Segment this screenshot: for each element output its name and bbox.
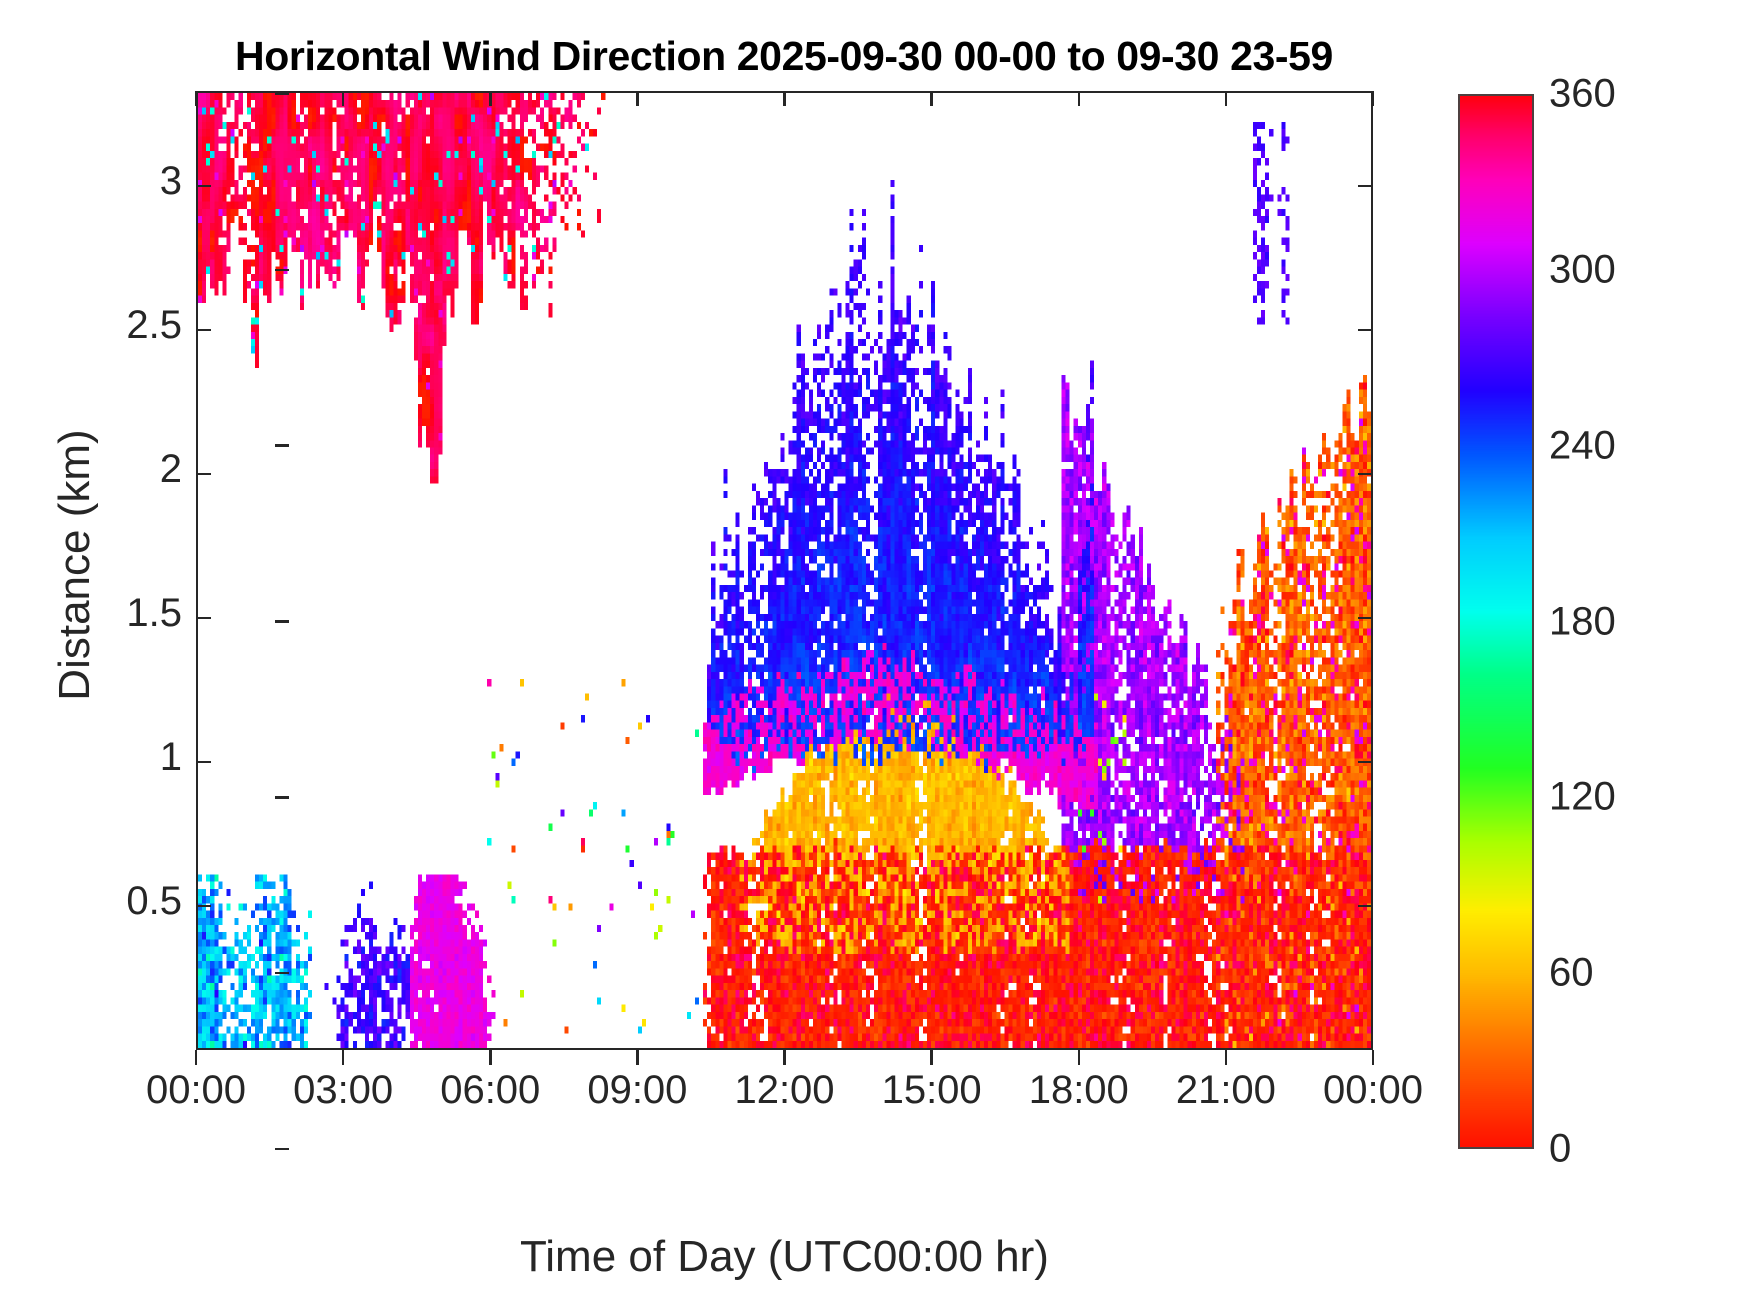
heatmap-axes[interactable] xyxy=(196,91,1373,1050)
y-axis-title: Distance (km) xyxy=(50,245,100,885)
x-tick-mark xyxy=(1078,1050,1081,1065)
y-tick-mark xyxy=(1358,761,1373,764)
y-tick-mark xyxy=(196,185,211,188)
colorbar-tick-mark xyxy=(275,972,289,975)
y-tick-label: 2 xyxy=(160,447,182,492)
x-axis-title: Time of Day (UTC00:00 hr) xyxy=(196,1232,1373,1282)
colorbar-tick-label: 60 xyxy=(1549,951,1594,996)
colorbar-tick-mark xyxy=(275,93,289,96)
x-tick-label: 18:00 xyxy=(1029,1068,1129,1113)
x-tick-label: 12:00 xyxy=(734,1068,834,1113)
colorbar-tick-label: 360 xyxy=(1549,72,1616,117)
x-tick-mark xyxy=(1078,91,1081,106)
y-tick-mark xyxy=(1358,617,1373,620)
x-tick-mark xyxy=(195,1050,198,1065)
colorbar-tick-mark xyxy=(275,620,289,623)
y-tick-label: 1 xyxy=(160,735,182,780)
y-tick-mark xyxy=(196,905,211,908)
colorbar-tick-label: 240 xyxy=(1549,423,1616,468)
x-tick-mark xyxy=(930,1050,933,1065)
x-tick-mark xyxy=(1225,91,1228,106)
y-tick-mark xyxy=(196,329,211,332)
x-tick-label: 15:00 xyxy=(882,1068,982,1113)
x-tick-mark xyxy=(783,1050,786,1065)
colorbar-gradient xyxy=(1460,96,1532,1147)
y-tick-mark xyxy=(1358,905,1373,908)
x-tick-mark xyxy=(636,91,639,106)
colorbar-tick-mark xyxy=(275,1148,289,1151)
x-tick-mark xyxy=(930,91,933,106)
colorbar-tick-label: 120 xyxy=(1549,775,1616,820)
y-tick-label: 1.5 xyxy=(126,591,182,636)
x-tick-mark xyxy=(342,91,345,106)
x-tick-mark xyxy=(195,91,198,106)
y-tick-mark xyxy=(196,617,211,620)
y-tick-mark xyxy=(1358,473,1373,476)
x-tick-label: 03:00 xyxy=(293,1068,393,1113)
page-title: Horizontal Wind Direction 2025-09-30 00-… xyxy=(196,33,1372,80)
x-tick-mark xyxy=(1372,1050,1375,1065)
x-tick-mark xyxy=(489,91,492,106)
x-tick-label: 09:00 xyxy=(587,1068,687,1113)
y-tick-mark xyxy=(196,761,211,764)
y-tick-mark xyxy=(1358,185,1373,188)
x-tick-label: 00:00 xyxy=(1323,1068,1423,1113)
x-tick-label: 21:00 xyxy=(1176,1068,1276,1113)
colorbar-tick-mark xyxy=(275,796,289,799)
colorbar-tick-label: 180 xyxy=(1549,599,1616,644)
x-tick-mark xyxy=(1372,91,1375,106)
wind-direction-figure: Horizontal Wind Direction 2025-09-30 00-… xyxy=(0,0,1750,1313)
colorbar-tick-mark xyxy=(275,269,289,272)
y-tick-label: 0.5 xyxy=(126,879,182,924)
x-tick-mark xyxy=(636,1050,639,1065)
x-tick-mark xyxy=(342,1050,345,1065)
x-tick-mark xyxy=(783,91,786,106)
colorbar-tick-mark xyxy=(275,444,289,447)
y-tick-mark xyxy=(1358,329,1373,332)
colorbar-tick-label: 0 xyxy=(1549,1127,1571,1172)
x-tick-label: 06:00 xyxy=(440,1068,540,1113)
colorbar[interactable] xyxy=(1458,94,1534,1149)
x-tick-label: 00:00 xyxy=(146,1068,246,1113)
x-tick-mark xyxy=(1225,1050,1228,1065)
x-tick-mark xyxy=(489,1050,492,1065)
y-tick-label: 3 xyxy=(160,159,182,204)
y-tick-label: 2.5 xyxy=(126,303,182,348)
colorbar-tick-label: 300 xyxy=(1549,247,1616,292)
y-tick-mark xyxy=(196,473,211,476)
wind-direction-heatmap[interactable] xyxy=(198,93,1371,1048)
